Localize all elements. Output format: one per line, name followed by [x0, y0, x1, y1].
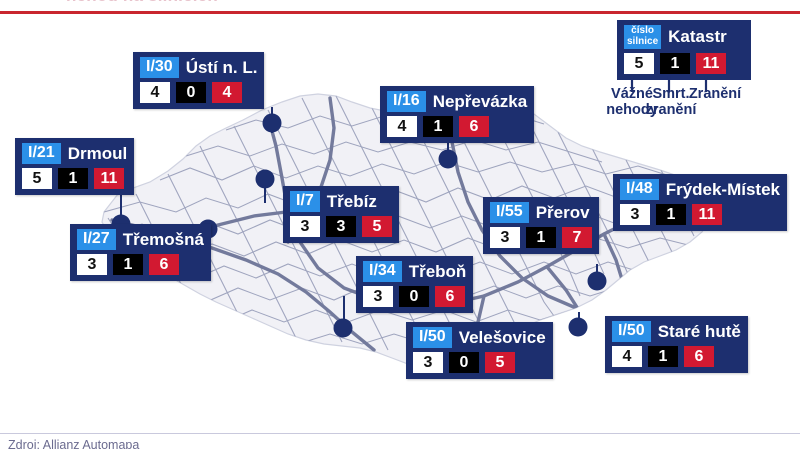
map-dot-trebon[interactable] — [334, 319, 353, 338]
injuries-value: 5 — [485, 352, 515, 373]
source-credit: Zdroj: Allianz Automapa — [8, 438, 408, 449]
callout-values: 3 0 6 — [363, 286, 466, 307]
callout-trebon[interactable]: I/34 Třeboň 3 0 6 — [356, 256, 473, 313]
map-dot-prerov[interactable] — [588, 272, 607, 291]
map-legend: číslosilnice Katastr 5 1 11 Vážnénehody … — [617, 20, 751, 80]
fatal-injuries-value: 1 — [656, 204, 686, 225]
callout-header: I/30 Ústí n. L. — [140, 57, 257, 78]
injuries-value: 11 — [692, 204, 722, 225]
legend-injured-value: 11 — [696, 53, 726, 74]
callout-neprevazka[interactable]: I/16 Nepřevázka 4 1 6 — [380, 86, 534, 143]
callout-values: 3 3 5 — [290, 216, 392, 237]
place-name: Ústí n. L. — [186, 59, 258, 77]
road-badge: I/55 — [490, 202, 529, 223]
callout-header: I/55 Přerov — [490, 202, 592, 223]
legend-caption-injured: Zranění — [679, 86, 751, 102]
callout-header: I/16 Nepřevázka — [387, 91, 527, 112]
callout-header: I/48 Frýdek-Místek — [620, 179, 780, 200]
source-text: Zdroj: Allianz Automapa — [8, 438, 408, 449]
callout-header: I/34 Třeboň — [363, 261, 466, 282]
place-name: Třeboň — [409, 263, 467, 281]
callout-tremosna[interactable]: I/27 Třemošná 3 1 6 — [70, 224, 211, 281]
callout-values: 3 1 11 — [620, 204, 780, 225]
injuries-value: 11 — [94, 168, 124, 189]
callout-header: I/50 Staré hutě — [612, 321, 741, 342]
injuries-value: 6 — [149, 254, 179, 275]
callout-velesovice[interactable]: I/50 Velešovice 3 0 5 — [406, 322, 553, 379]
callout-header: I/7 Třebíz — [290, 191, 392, 212]
serious-accidents-value: 3 — [413, 352, 443, 373]
legend-title: Katastr — [668, 28, 727, 46]
road-badge: I/50 — [612, 321, 651, 342]
fatal-injuries-value: 1 — [423, 116, 453, 137]
fatal-injuries-value: 0 — [399, 286, 429, 307]
place-name: Velešovice — [459, 329, 546, 347]
serious-accidents-value: 3 — [620, 204, 650, 225]
road-badge: I/48 — [620, 179, 659, 200]
callout-values: 3 0 5 — [413, 352, 546, 373]
place-name: Nepřevázka — [433, 93, 528, 111]
callout-header: I/27 Třemošná — [77, 229, 204, 250]
fatal-injuries-value: 1 — [526, 227, 556, 248]
road-badge: I/27 — [77, 229, 116, 250]
place-name: Přerov — [536, 204, 590, 222]
callout-values: 5 1 11 — [22, 168, 127, 189]
callout-frydek-mistek[interactable]: I/48 Frýdek-Místek 3 1 11 — [613, 174, 787, 231]
road-badge: I/21 — [22, 143, 61, 164]
place-name: Staré hutě — [658, 323, 741, 341]
serious-accidents-value: 3 — [290, 216, 320, 237]
fatal-injuries-value: 0 — [449, 352, 479, 373]
road-badge: I/30 — [140, 57, 179, 78]
injuries-value: 4 — [212, 82, 242, 103]
legend-header: číslosilnice Katastr — [624, 25, 744, 49]
callout-header: I/50 Velešovice — [413, 327, 546, 348]
callout-values: 4 1 6 — [387, 116, 527, 137]
map-dot-stare-hute[interactable] — [569, 318, 588, 337]
clipped-headline-text: nehod na silnicich — [0, 0, 800, 6]
serious-accidents-value: 5 — [22, 168, 52, 189]
map-dot-usti-nad-labem[interactable] — [263, 114, 282, 133]
legend-sample-callout: číslosilnice Katastr 5 1 11 — [617, 20, 751, 80]
road-badge: I/34 — [363, 261, 402, 282]
road-badge: I/7 — [290, 191, 320, 212]
injuries-value: 6 — [435, 286, 465, 307]
header-divider — [0, 11, 800, 14]
serious-accidents-value: 4 — [387, 116, 417, 137]
footer-divider — [0, 433, 800, 434]
injuries-value: 5 — [362, 216, 392, 237]
clipped-headline: nehod na silnicich — [0, 0, 800, 8]
serious-accidents-value: 3 — [490, 227, 520, 248]
callout-values: 3 1 7 — [490, 227, 592, 248]
serious-accidents-value: 3 — [363, 286, 393, 307]
road-badge: I/50 — [413, 327, 452, 348]
fatal-injuries-value: 1 — [58, 168, 88, 189]
serious-accidents-value: 3 — [77, 254, 107, 275]
callout-header: I/21 Drmoul — [22, 143, 127, 164]
road-badge: I/16 — [387, 91, 426, 112]
injuries-value: 7 — [562, 227, 592, 248]
place-name: Třebíz — [327, 193, 377, 211]
callout-usti-nad-labem[interactable]: I/30 Ústí n. L. 4 0 4 — [133, 52, 264, 109]
callout-values: 4 0 4 — [140, 82, 257, 103]
callout-prerov[interactable]: I/55 Přerov 3 1 7 — [483, 197, 599, 254]
callout-values: 4 1 6 — [612, 346, 741, 367]
fatal-injuries-value: 0 — [176, 82, 206, 103]
injuries-value: 6 — [684, 346, 714, 367]
legend-serious-value: 5 — [624, 53, 654, 74]
callout-values: 3 1 6 — [77, 254, 204, 275]
place-name: Třemošná — [123, 231, 204, 249]
injuries-value: 6 — [459, 116, 489, 137]
serious-accidents-value: 4 — [140, 82, 170, 103]
fatal-injuries-value: 1 — [113, 254, 143, 275]
legend-values: 5 1 11 — [624, 53, 744, 74]
place-name: Drmoul — [68, 145, 128, 163]
callout-stare-hute[interactable]: I/50 Staré hutě 4 1 6 — [605, 316, 748, 373]
callout-trebiz[interactable]: I/7 Třebíz 3 3 5 — [283, 186, 399, 243]
serious-accidents-value: 4 — [612, 346, 642, 367]
place-name: Frýdek-Místek — [666, 181, 780, 199]
road-number-label: číslosilnice — [624, 25, 661, 49]
fatal-injuries-value: 1 — [648, 346, 678, 367]
fatal-injuries-value: 3 — [326, 216, 356, 237]
legend-dead-value: 1 — [660, 53, 690, 74]
callout-drmoul[interactable]: I/21 Drmoul 5 1 11 — [15, 138, 134, 195]
map-dot-trebiz[interactable] — [256, 170, 275, 189]
map-dot-neprevazka[interactable] — [439, 150, 458, 169]
